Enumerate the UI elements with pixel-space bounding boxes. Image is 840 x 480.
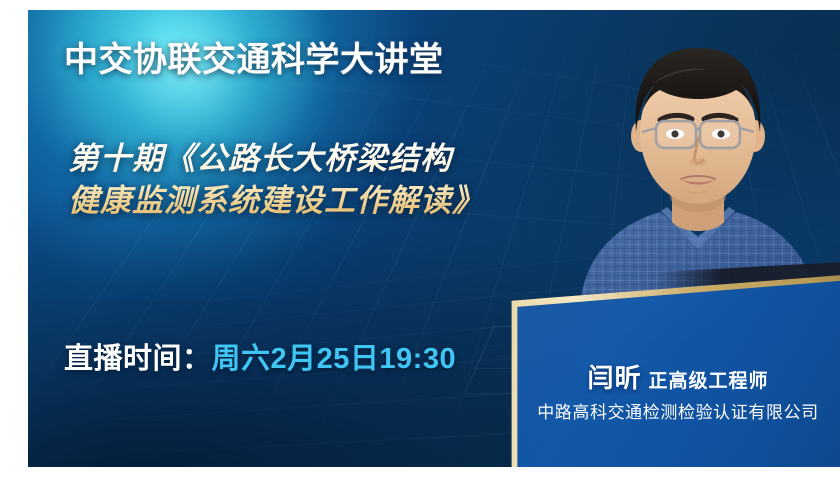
poster-canvas: 中交协联交通科学大讲堂 第十期《公路长大桥梁结构 健康监测系统建设工作解读》 直…: [28, 10, 840, 467]
speaker-name: 闫昕: [587, 363, 641, 393]
page-title: 中交协联交通科学大讲堂: [64, 32, 444, 81]
speaker-title: 正高级工程师: [649, 371, 769, 392]
speaker-plaque: 闫昕正高级工程师 中路高科交通检测检验认证有限公司: [508, 272, 840, 467]
live-time: 直播时间：周六2月25日19:30: [64, 335, 456, 377]
episode-subtitle: 第十期《公路长大桥梁结构 健康监测系统建设工作解读》: [68, 138, 484, 222]
poster-root: 中交协联交通科学大讲堂 第十期《公路长大桥梁结构 健康监测系统建设工作解读》 直…: [0, 0, 840, 480]
live-time-label: 直播时间：: [64, 343, 212, 375]
speaker-organization: 中路高科交通检测检验认证有限公司: [508, 398, 840, 423]
episode-subtitle-line-2: 健康监测系统建设工作解读》: [68, 180, 484, 222]
speaker-name-row: 闫昕正高级工程师: [508, 358, 840, 395]
live-time-value: 周六2月25日19:30: [212, 343, 457, 375]
episode-subtitle-line-1: 第十期《公路长大桥梁结构: [68, 138, 484, 180]
